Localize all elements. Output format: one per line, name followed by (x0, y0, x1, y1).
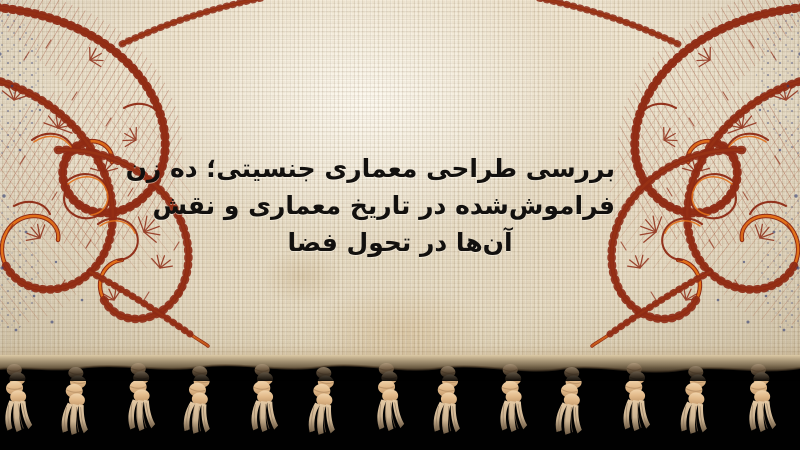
tassel-fringe-band (0, 355, 800, 450)
page-title: بررسی طراحی معماری جنسیتی؛ ده زن فراموش‌… (185, 150, 615, 261)
title-line-3: آن‌ها در تحول فضا (185, 224, 615, 261)
title-line-2: فراموش‌شده در تاریخ معماری و نقش (185, 187, 615, 224)
title-line-1: بررسی طراحی معماری جنسیتی؛ ده زن (185, 150, 615, 187)
title-card: بررسی طراحی معماری جنسیتی؛ ده زن فراموش‌… (0, 0, 800, 450)
